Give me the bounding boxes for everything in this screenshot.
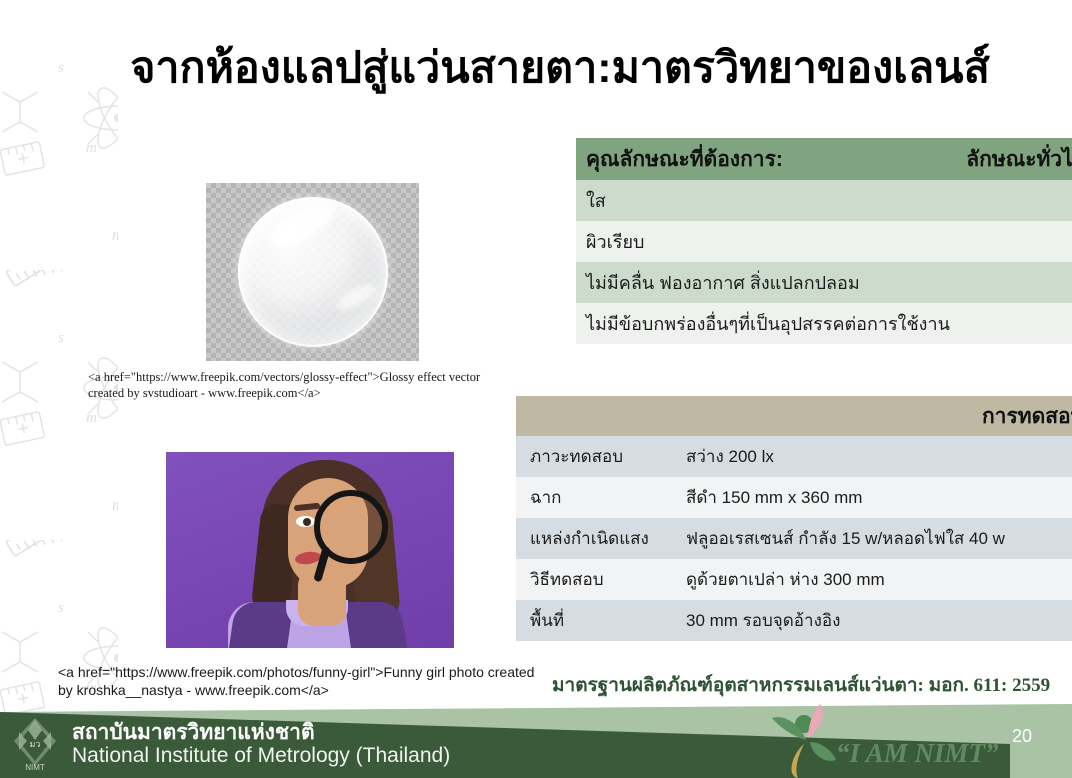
background-mask-top	[0, 0, 1072, 26]
lens-glass-shape	[238, 197, 388, 347]
table-row: ไม่มีคลื่น ฟองอากาศ สิ่งแปลกปลอม	[576, 262, 1072, 303]
girl-image-credit: <a href="https://www.freepik.com/photos/…	[58, 664, 538, 699]
testing-cell-value: สีดำ 150 mm x 360 mm	[686, 484, 1072, 511]
requirements-header-left: คุณลักษณะที่ต้องการ:	[586, 143, 783, 176]
footer-org-english: National Institute of Metrology (Thailan…	[72, 744, 450, 768]
requirements-cell: ใส	[586, 186, 606, 215]
requirements-table: คุณลักษณะที่ต้องการ: ลักษณะทั่วไป ใส ผิว…	[576, 138, 1072, 344]
table-row: ฉาก สีดำ 150 mm x 360 mm	[516, 477, 1072, 518]
photo-vest-left	[228, 602, 293, 648]
photo-pupil	[303, 518, 311, 526]
page-number: 20	[1012, 726, 1032, 747]
woman-with-magnifier-image	[166, 452, 454, 648]
testing-table: การทดสอบ ภาวะทดสอบ สว่าง 200 lx ฉาก สีดำ…	[516, 396, 1072, 641]
glossy-lens-image	[206, 183, 419, 361]
svg-text:NIMT: NIMT	[25, 763, 45, 772]
testing-cell-value: ฟลูออเรสเซนส์ กำลัง 15 w/หลอดไฟใส 40 w	[686, 525, 1072, 552]
lens-highlight-secondary-icon	[332, 279, 378, 315]
testing-header-label: การทดสอบ	[982, 400, 1072, 433]
testing-cell-label: วิธีทดสอบ	[516, 566, 686, 593]
requirements-header-right: ลักษณะทั่วไป	[966, 143, 1072, 176]
testing-table-header: การทดสอบ	[516, 396, 1072, 436]
table-row: ไม่มีข้อบกพร่องอื่นๆที่เป็นอุปสรรคต่อการ…	[576, 303, 1072, 344]
testing-cell-label: แหล่งกำเนิดแสง	[516, 525, 686, 552]
testing-cell-value: 30 mm รอบจุดอ้างอิง	[686, 607, 1072, 634]
table-row: ภาวะทดสอบ สว่าง 200 lx	[516, 436, 1072, 477]
standard-reference-note: มาตรฐานผลิตภัณฑ์อุตสาหกรรมเลนส์แว่นตา: ม…	[552, 670, 1072, 700]
nimt-logo-icon: มว NIMT	[6, 716, 64, 774]
requirements-cell: ผิวเรียบ	[586, 227, 644, 256]
testing-cell-value: ดูด้วยตาเปล่า ห่าง 300 mm	[686, 566, 1072, 593]
table-row: ใส	[576, 180, 1072, 221]
table-row: พื้นที่ 30 mm รอบจุดอ้างอิง	[516, 600, 1072, 641]
i-am-nimt-slogan: “I AM NIMT”	[836, 738, 999, 769]
testing-cell-label: พื้นที่	[516, 607, 686, 634]
magnifier-lens-icon	[314, 490, 388, 564]
table-row: แหล่งกำเนิดแสง ฟลูออเรสเซนส์ กำลัง 15 w/…	[516, 518, 1072, 559]
requirements-cell: ไม่มีคลื่น ฟองอากาศ สิ่งแปลกปลอม	[586, 268, 860, 297]
requirements-cell: ไม่มีข้อบกพร่องอื่นๆที่เป็นอุปสรรคต่อการ…	[586, 309, 950, 338]
lens-highlight-icon	[263, 196, 340, 255]
lens-image-credit: <a href="https://www.freepik.com/vectors…	[88, 370, 488, 401]
testing-cell-label: ภาวะทดสอบ	[516, 443, 686, 470]
table-row: วิธีทดสอบ ดูด้วยตาเปล่า ห่าง 300 mm	[516, 559, 1072, 600]
slide: s m mol Kg U=kX จากห้องแลปสู่แว่	[0, 0, 1072, 778]
page-title: จากห้องแลปสู่แว่นสายตา:มาตรวิทยาของเลนส์	[60, 44, 1060, 93]
testing-cell-label: ฉาก	[516, 484, 686, 511]
svg-text:มว: มว	[30, 739, 41, 749]
testing-cell-value: สว่าง 200 lx	[686, 443, 1072, 470]
table-row: ผิวเรียบ	[576, 221, 1072, 262]
requirements-table-header: คุณลักษณะที่ต้องการ: ลักษณะทั่วไป	[576, 138, 1072, 180]
